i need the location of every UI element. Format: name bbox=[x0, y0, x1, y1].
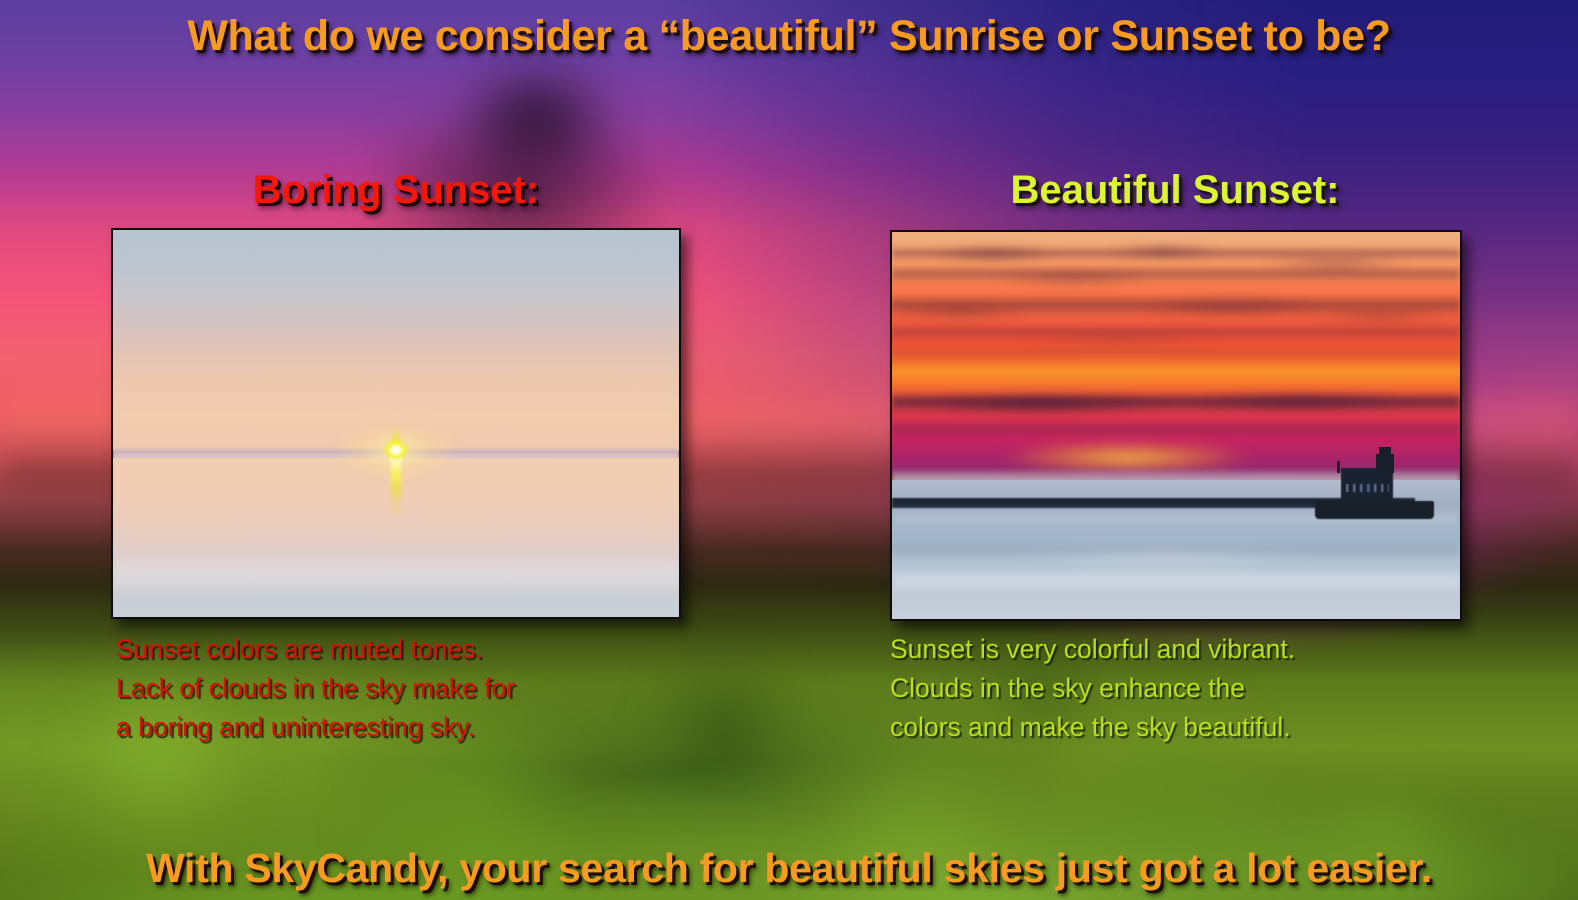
boring-sun-icon bbox=[383, 439, 409, 461]
boring-photo-artwork bbox=[113, 230, 679, 617]
caption-boring-line-3: a boring and uninteresting sky. bbox=[116, 708, 515, 747]
caption-beautiful-line-3: colors and make the sky beautiful. bbox=[890, 708, 1295, 747]
beautiful-photo-artwork bbox=[892, 232, 1460, 619]
slide-canvas: What do we consider a “beautiful” Sunris… bbox=[0, 0, 1578, 900]
boring-sun-reflection-tail bbox=[389, 505, 403, 517]
photo-beautiful-sunset bbox=[890, 230, 1462, 621]
caption-beautiful: Sunset is very colorful and vibrant. Clo… bbox=[890, 630, 1295, 747]
caption-boring-line-1: Sunset colors are muted tones. bbox=[116, 630, 515, 669]
beautiful-cloud-blobs bbox=[892, 232, 1460, 474]
caption-boring-line-2: Lack of clouds in the sky make for bbox=[116, 669, 515, 708]
beautiful-lighthouse-tower bbox=[1376, 454, 1394, 473]
beautiful-lighthouse-mast bbox=[1337, 461, 1340, 473]
beautiful-lighthouse-lantern bbox=[1379, 447, 1390, 455]
caption-beautiful-line-1: Sunset is very colorful and vibrant. bbox=[890, 630, 1295, 669]
beautiful-lighthouse-windows bbox=[1346, 484, 1389, 493]
beautiful-lighthouse-base bbox=[1315, 501, 1434, 519]
panel-heading-beautiful: Beautiful Sunset: bbox=[892, 168, 1458, 213]
caption-beautiful-line-2: Clouds in the sky enhance the bbox=[890, 669, 1295, 708]
page-title: What do we consider a “beautiful” Sunris… bbox=[0, 12, 1578, 61]
panel-heading-boring: Boring Sunset: bbox=[113, 168, 679, 213]
caption-boring: Sunset colors are muted tones. Lack of c… bbox=[116, 630, 515, 747]
boring-sun-reflection bbox=[391, 456, 402, 508]
tagline: With SkyCandy, your search for beautiful… bbox=[0, 845, 1578, 892]
photo-boring-sunset bbox=[111, 228, 681, 619]
